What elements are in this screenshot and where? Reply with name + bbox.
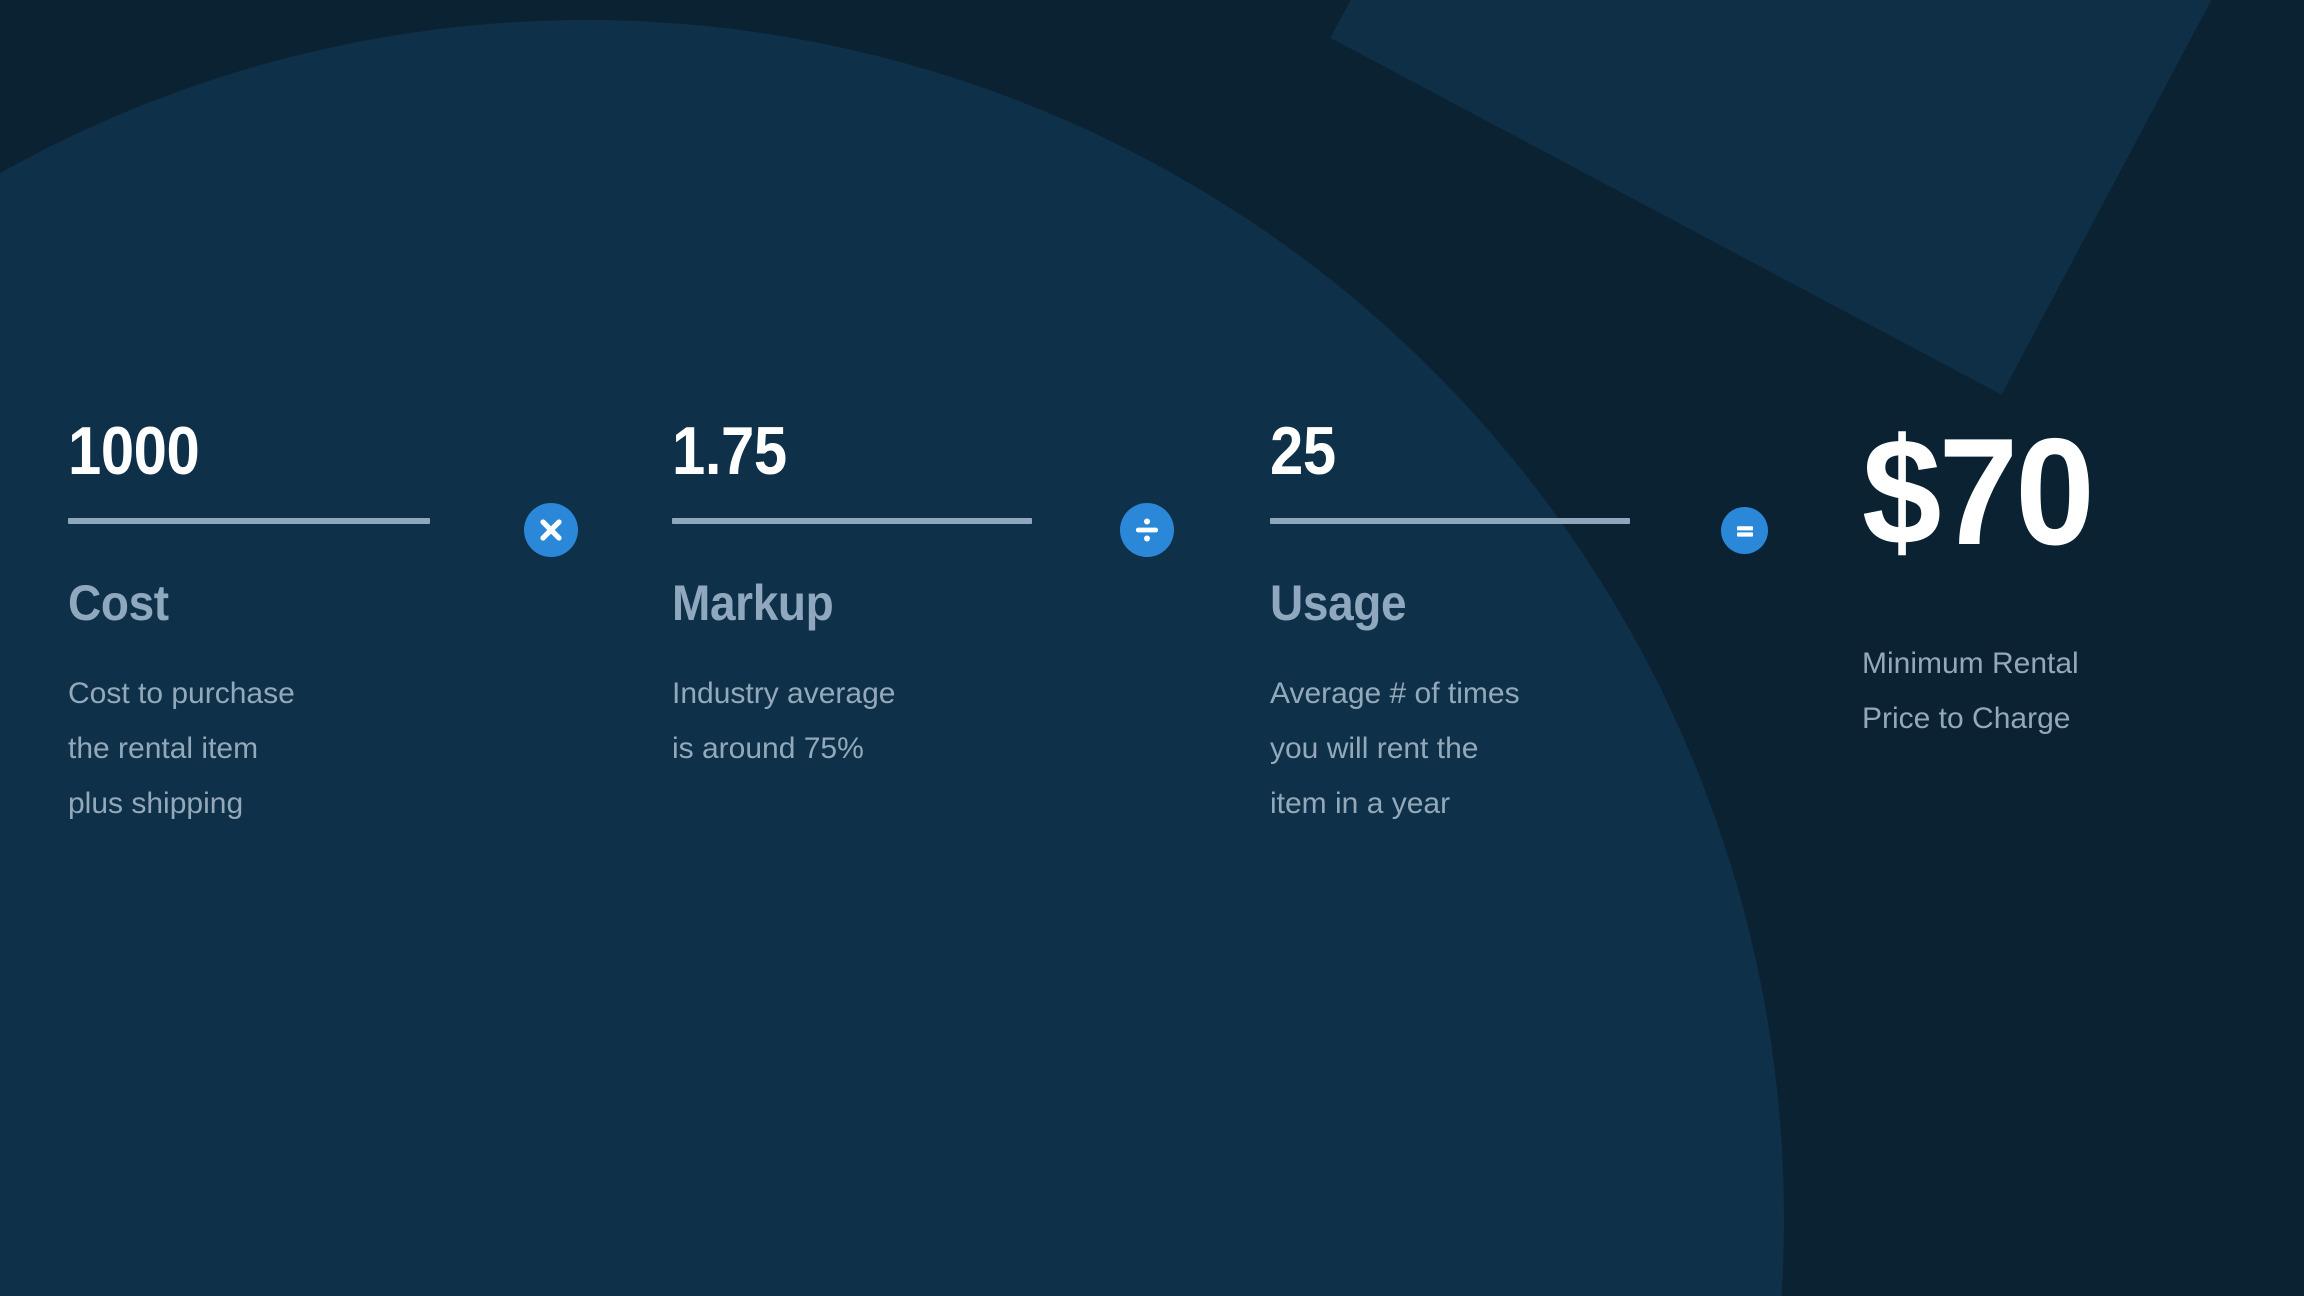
infographic-canvas: 1000 Cost Cost to purchase the rental it… <box>0 0 2304 1296</box>
metric-value-cost: 1000 <box>68 412 387 494</box>
metric-card-markup: 1.75 Markup Industry average is around 7… <box>672 412 1032 776</box>
metric-rule-usage <box>1270 518 1630 524</box>
metric-description-markup: Industry average is around 75% <box>672 666 1032 776</box>
equals-icon <box>1721 507 1768 554</box>
metric-description-usage: Average # of times you will rent the ite… <box>1270 666 1630 831</box>
metric-value-markup: 1.75 <box>672 412 989 494</box>
result-card: $70 Minimum Rental Price to Charge <box>1862 412 2262 746</box>
metric-rule-markup <box>672 518 1032 524</box>
metric-rule-cost <box>68 518 430 524</box>
multiply-icon <box>524 503 578 557</box>
result-value: $70 <box>1862 412 2238 584</box>
result-description: Minimum Rental Price to Charge <box>1862 636 2262 746</box>
metric-label-markup: Markup <box>672 574 1003 632</box>
metric-description-cost: Cost to purchase the rental item plus sh… <box>68 666 430 831</box>
divide-icon <box>1120 503 1174 557</box>
metric-label-cost: Cost <box>68 574 401 632</box>
metric-card-cost: 1000 Cost Cost to purchase the rental it… <box>68 412 430 831</box>
metric-value-usage: 25 <box>1270 412 1587 494</box>
metric-label-usage: Usage <box>1270 574 1601 632</box>
metric-card-usage: 25 Usage Average # of times you will ren… <box>1270 412 1630 831</box>
formula-row: 1000 Cost Cost to purchase the rental it… <box>0 0 2304 1296</box>
